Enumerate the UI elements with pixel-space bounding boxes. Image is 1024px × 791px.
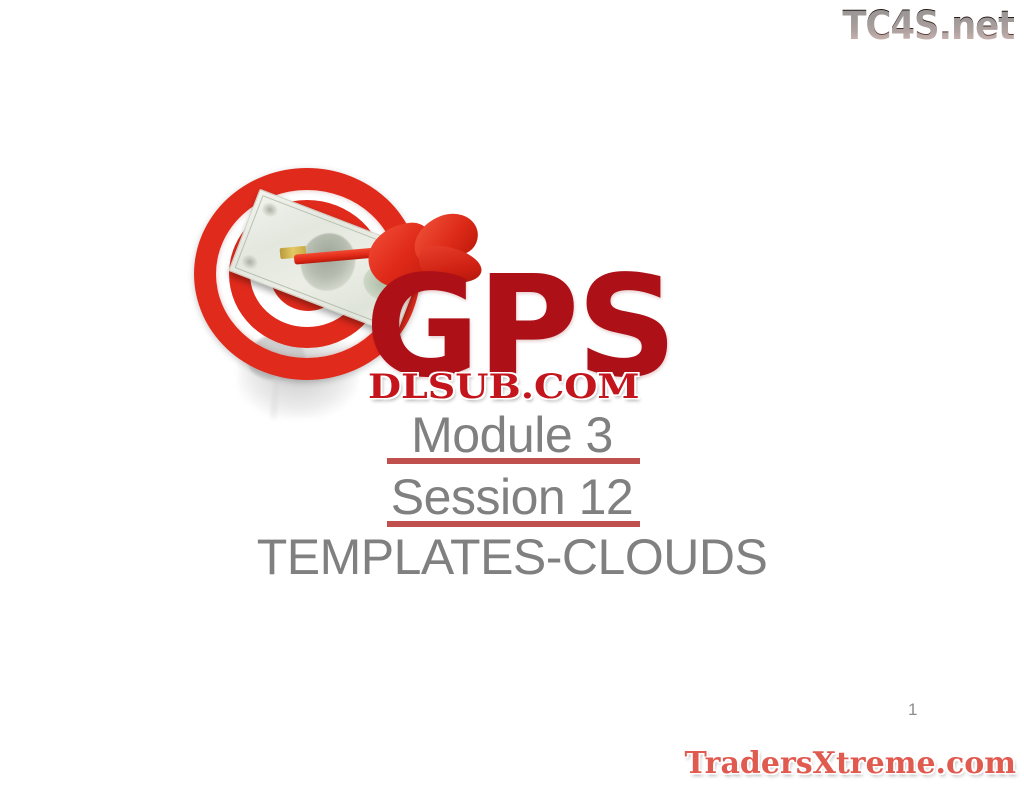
slide-canvas: TC4S.net GPS DLSUB.COM Module [0,0,1024,791]
page-number: 1 [908,700,917,720]
subtitle-block: Module 3 Session 12 TEMPLATES-CLOUDS [0,408,1024,584]
divider-rule-bottom [387,521,640,527]
subtitle-module: Module 3 [0,408,1024,462]
tradersxtreme-brand-logo: TradersXtreme.com [685,747,1016,781]
subtitle-session: Session 12 [0,470,1024,524]
dlsub-watermark: DLSUB.COM [368,368,640,406]
divider-rule-top [387,458,640,464]
subtitle-topic: TEMPLATES-CLOUDS [0,530,1024,584]
tc4s-brand-logo: TC4S.net [842,4,1014,48]
